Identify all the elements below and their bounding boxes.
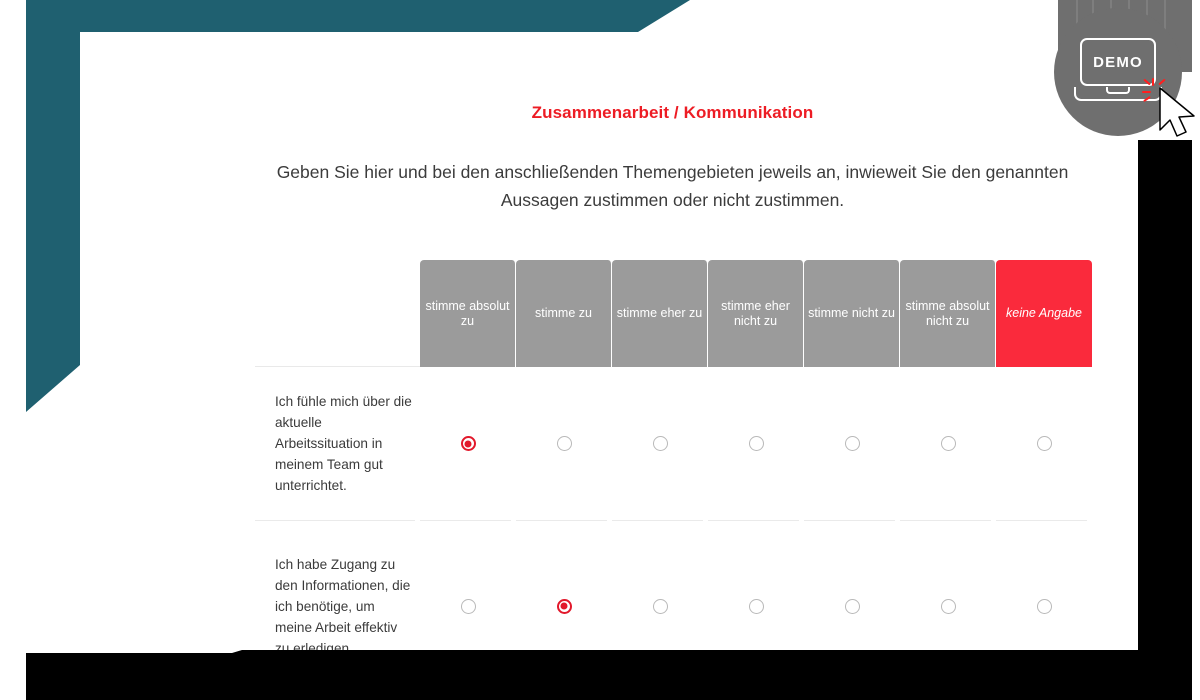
radio-button[interactable] xyxy=(941,436,956,451)
scale-label: stimme eher zu xyxy=(617,306,702,321)
option-q2-stimme-absolut-zu[interactable] xyxy=(420,599,516,614)
survey-card: Zusammenarbeit / Kommunikation Geben Sie… xyxy=(80,45,1138,650)
radio-button[interactable] xyxy=(653,436,668,451)
scale-header-stimme-absolut-zu: stimme absolut zu xyxy=(420,260,516,367)
option-q1-keine-angabe[interactable] xyxy=(996,436,1092,451)
scale-label: stimme zu xyxy=(535,306,592,321)
radio-button[interactable] xyxy=(1037,436,1052,451)
option-q2-keine-angabe[interactable] xyxy=(996,599,1092,614)
laptop-notch xyxy=(1106,87,1130,94)
scale-header-stimme-zu: stimme zu xyxy=(516,260,612,367)
radio-button[interactable] xyxy=(1037,599,1052,614)
question-label-q2: Ich habe Zugang zu den Informationen, di… xyxy=(255,554,420,659)
option-q2-stimme-nicht-zu[interactable] xyxy=(804,599,900,614)
option-q2-stimme-absolut-nicht-zu[interactable] xyxy=(900,599,996,614)
scale-header-stimme-nicht-zu: stimme nicht zu xyxy=(804,260,900,367)
scale-header-keine-angabe: keine Angabe xyxy=(996,260,1092,367)
option-q1-stimme-eher-zu[interactable] xyxy=(612,436,708,451)
scale-label: stimme absolut nicht zu xyxy=(904,299,991,329)
scale-label: stimme absolut zu xyxy=(424,299,511,329)
intro-text: Geben Sie hier und bei den anschließende… xyxy=(240,158,1105,214)
decorative-right-black-band xyxy=(1138,140,1192,700)
option-q2-stimme-zu[interactable] xyxy=(516,599,612,614)
page-title: Zusammenarbeit / Kommunikation xyxy=(160,103,1185,123)
scale-label: stimme eher nicht zu xyxy=(712,299,799,329)
radio-button[interactable] xyxy=(557,436,572,451)
decorative-bottom-black-bar xyxy=(26,650,1192,700)
radio-button[interactable] xyxy=(461,436,476,451)
option-q1-stimme-absolut-zu[interactable] xyxy=(420,436,516,451)
radio-button[interactable] xyxy=(845,436,860,451)
scale-label: stimme nicht zu xyxy=(808,306,895,321)
radio-button[interactable] xyxy=(845,599,860,614)
scale-label: keine Angabe xyxy=(1006,306,1082,321)
matrix-header-label-spacer xyxy=(255,260,420,367)
option-q2-stimme-eher-nicht-zu[interactable] xyxy=(708,599,804,614)
radio-button[interactable] xyxy=(557,599,572,614)
radio-button[interactable] xyxy=(653,599,668,614)
question-label-q1: Ich fühle mich über die aktuelle Arbeits… xyxy=(255,391,420,496)
survey-matrix: stimme absolut zu stimme zu stimme eher … xyxy=(255,260,1093,691)
radio-button[interactable] xyxy=(749,599,764,614)
demo-badge: DEMO xyxy=(1046,0,1200,160)
radio-button[interactable] xyxy=(749,436,764,451)
radio-button[interactable] xyxy=(941,599,956,614)
option-q1-stimme-zu[interactable] xyxy=(516,436,612,451)
scale-header-stimme-absolut-nicht-zu: stimme absolut nicht zu xyxy=(900,260,996,367)
option-q1-stimme-nicht-zu[interactable] xyxy=(804,436,900,451)
scale-header-stimme-eher-zu: stimme eher zu xyxy=(612,260,708,367)
option-q1-stimme-eher-nicht-zu[interactable] xyxy=(708,436,804,451)
screen-root: Zusammenarbeit / Kommunikation Geben Sie… xyxy=(0,0,1200,700)
radio-button[interactable] xyxy=(461,599,476,614)
option-q1-stimme-absolut-nicht-zu[interactable] xyxy=(900,436,996,451)
scale-header-stimme-eher-nicht-zu: stimme eher nicht zu xyxy=(708,260,804,367)
matrix-header-row: stimme absolut zu stimme zu stimme eher … xyxy=(255,260,1093,367)
table-row: Ich fühle mich über die aktuelle Arbeits… xyxy=(255,367,1093,520)
option-q2-stimme-eher-zu[interactable] xyxy=(612,599,708,614)
mouse-cursor-icon xyxy=(1156,86,1200,140)
